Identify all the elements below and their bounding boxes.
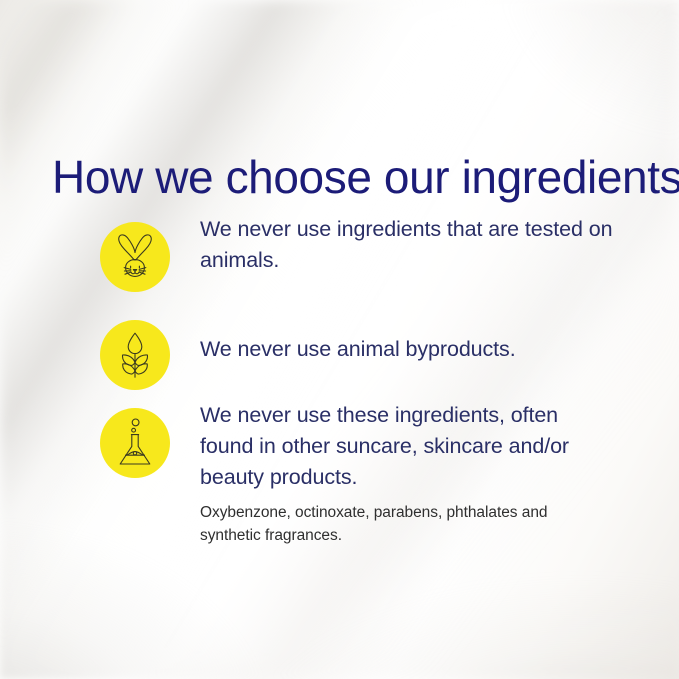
feature-subtext: Oxybenzone, octinoxate, parabens, phthal…: [200, 501, 580, 547]
feature-text: We never use animal byproducts.: [200, 334, 620, 365]
feature-text: We never use ingredients that are tested…: [200, 214, 620, 276]
bunny-heart-ears-icon: [112, 232, 158, 282]
icon-badge-cruelty-free: [100, 222, 170, 292]
feature-text: We never use these ingredients, often fo…: [200, 400, 605, 493]
page-title: How we choose our ingredients: [52, 153, 679, 201]
erlenmeyer-flask-icon: [113, 417, 157, 469]
icon-badge-flask: [100, 408, 170, 478]
plant-sprig-icon: [113, 330, 157, 380]
icon-badge-plant: [100, 320, 170, 390]
ingredient-philosophy-card: How we choose our ingredients: [0, 0, 679, 679]
